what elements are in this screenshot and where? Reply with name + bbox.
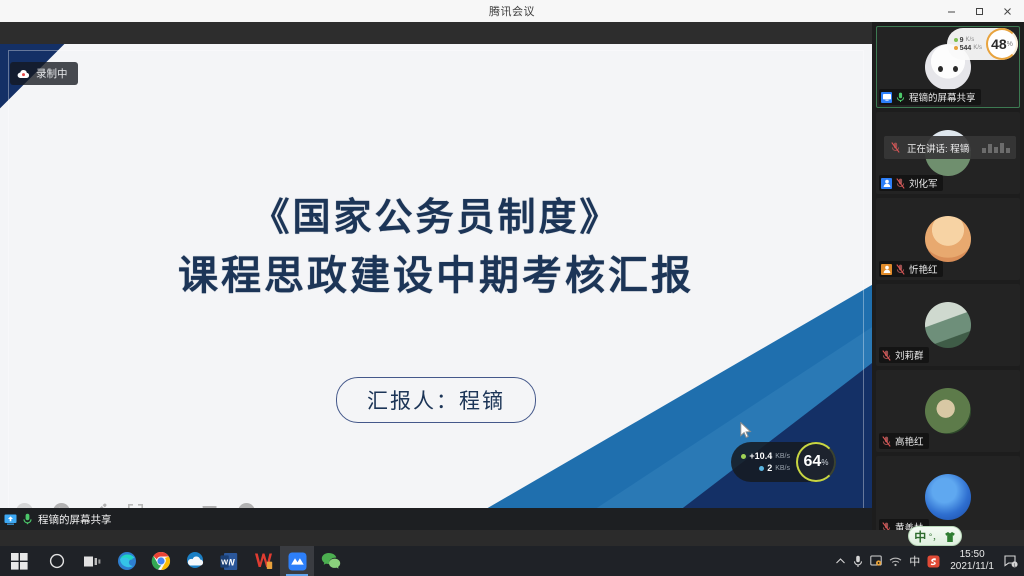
participant-name-chip: 刘莉群 [879, 347, 929, 363]
slide-title-line-1: 《国家公务员制度》 [0, 192, 872, 242]
muted-microphone-icon [895, 264, 906, 275]
taskbar-app-edge[interactable] [110, 546, 144, 576]
taskbar-left-group: W W [0, 546, 348, 576]
cpu-usage-value: 64 [804, 453, 822, 471]
muted-microphone-icon [881, 436, 892, 447]
cpu-usage-symbol: % [821, 458, 828, 467]
upload-speed-row: +10.4 KB/s [741, 451, 790, 461]
avatar [925, 216, 971, 262]
system-tray: 中 15:50 2021/11/1 1 [835, 546, 1024, 576]
tile-upload-row: 9 K/s [954, 37, 982, 44]
participant-rail[interactable]: 9 K/s 544 K/s 48 % [872, 22, 1024, 530]
participant-name: 刘化军 [909, 176, 938, 190]
sogou-icon[interactable] [927, 555, 940, 568]
avatar [925, 302, 971, 348]
participant-tile-screenshare[interactable]: 9 K/s 544 K/s 48 % [876, 26, 1020, 108]
upload-speed-value: +10.4 [749, 451, 772, 461]
tile-upload-unit: K/s [966, 37, 975, 43]
avatar [925, 474, 971, 520]
taskbar-app-wechat[interactable] [314, 546, 348, 576]
participant-name-chip: 程镝的屏幕共享 [879, 89, 981, 105]
recording-label: 录制中 [36, 66, 68, 81]
participant-tile-4[interactable]: 刘莉群 [876, 284, 1020, 366]
recording-badge: 录制中 [10, 62, 78, 85]
download-arrow-icon [954, 46, 958, 50]
powerpoint-slide[interactable]: 《国家公务员制度》 课程思政建设中期考核汇报 汇报人：程镝 录制中 [0, 44, 872, 530]
taskbar-app-chrome[interactable] [144, 546, 178, 576]
tile-usage-value: 48 [991, 36, 1007, 52]
download-speed-unit: KB/s [775, 465, 790, 472]
taskbar-app-weather[interactable] [178, 546, 212, 576]
wifi-icon[interactable] [889, 556, 902, 567]
active-speaker-text: 正在讲话: 程镝 [907, 141, 969, 155]
microphone-icon [21, 513, 34, 526]
download-arrow-icon [759, 466, 764, 471]
ime-floating-bar[interactable]: 中 °， [908, 526, 962, 546]
share-owner-label: 程镝的屏幕共享 [38, 512, 112, 527]
upload-arrow-icon [954, 38, 958, 42]
window-titlebar: 腾讯会议 [0, 0, 1024, 22]
taskbar-clock[interactable]: 15:50 2021/11/1 [947, 549, 997, 573]
microphone-icon [895, 92, 906, 103]
presenter-label: 汇报人：程镝 [336, 377, 536, 423]
tile-network-rows: 9 K/s 544 K/s [954, 37, 986, 52]
minimize-button[interactable] [938, 1, 964, 21]
monitor-share-icon [4, 513, 17, 526]
svg-text:W: W [221, 557, 228, 566]
audio-wave-icon [982, 143, 1010, 153]
tile-download-value: 544 [960, 45, 972, 52]
muted-microphone-icon [895, 178, 906, 189]
slide-title-block: 《国家公务员制度》 课程思政建设中期考核汇报 [0, 192, 872, 304]
ime-indicator[interactable]: 中 [909, 553, 920, 569]
cpu-usage-ring: 64 % [796, 442, 836, 482]
participant-tile-2[interactable]: 正在讲话: 程镝 刘化军 [876, 112, 1020, 194]
participant-name: 高艳红 [895, 434, 924, 448]
tile-upload-value: 9 [960, 37, 964, 44]
ime-mode-label[interactable]: 中 [914, 528, 926, 545]
muted-microphone-icon [881, 522, 892, 531]
participant-name: 刘莉群 [895, 348, 924, 362]
participant-tile-3[interactable]: 忻艳红 [876, 198, 1020, 280]
mic-icon[interactable] [853, 555, 863, 568]
taskbar-app-tencent-meeting[interactable] [280, 546, 314, 576]
search-circle-icon[interactable] [38, 546, 76, 576]
tile-usage-ring: 48 % [986, 28, 1018, 60]
muted-microphone-icon [890, 142, 901, 153]
active-speaker-toast: 正在讲话: 程镝 [884, 136, 1016, 159]
taskbar-app-word[interactable]: W W [212, 546, 246, 576]
download-speed-value: 2 [767, 463, 772, 473]
ime-punctuation-label[interactable]: °， [929, 530, 942, 543]
clock-date: 2021/11/1 [950, 561, 994, 573]
windows-taskbar[interactable]: W W [0, 546, 1024, 576]
upload-arrow-icon [741, 454, 746, 459]
host-badge-icon [881, 178, 892, 189]
upload-speed-unit: KB/s [775, 453, 790, 460]
window-controls [938, 0, 1020, 22]
network-status-overlay-tile[interactable]: 9 K/s 544 K/s 48 % [947, 28, 1018, 60]
clock-time: 15:50 [960, 549, 985, 561]
cloud-record-icon [17, 69, 30, 79]
slide-title-line-2: 课程思政建设中期考核汇报 [0, 248, 872, 304]
tray-overflow-icon[interactable] [835, 556, 846, 567]
download-speed-row: 2 KB/s [741, 463, 790, 473]
participant-name-chip: 高艳红 [879, 433, 929, 449]
participant-tile-6[interactable]: 黄善林 [876, 456, 1020, 530]
start-icon[interactable] [0, 546, 38, 576]
window-title: 腾讯会议 [489, 3, 535, 19]
network-speed-rows: +10.4 KB/s 2 KB/s [741, 451, 796, 473]
taskbar-app-wps[interactable] [246, 546, 280, 576]
muted-microphone-icon [881, 350, 892, 361]
tile-download-row: 544 K/s [954, 45, 982, 52]
tencent-meeting-window: 腾讯会议 [0, 0, 1024, 576]
shared-screen-area[interactable]: 《国家公务员制度》 课程思政建设中期考核汇报 汇报人：程镝 录制中 [0, 22, 872, 530]
maximize-button[interactable] [966, 1, 992, 21]
svg-text:1: 1 [1013, 562, 1016, 567]
tile-download-unit: K/s [973, 45, 982, 51]
avatar [925, 388, 971, 434]
participant-name: 程镝的屏幕共享 [909, 90, 976, 104]
security-icon[interactable] [870, 555, 882, 567]
notification-icon[interactable]: 1 [1004, 554, 1018, 568]
participant-tile-5[interactable]: 高艳红 [876, 370, 1020, 452]
tile-usage-symbol: % [1007, 41, 1013, 48]
cohost-badge-icon [881, 264, 892, 275]
share-footer-bar: 程镝的屏幕共享 [0, 508, 872, 530]
shirt-skin-icon[interactable] [944, 530, 956, 542]
close-button[interactable] [994, 1, 1020, 21]
task-view-icon[interactable] [76, 546, 110, 576]
participant-name: 忻艳红 [909, 262, 938, 276]
screen-share-badge-icon [881, 92, 892, 103]
network-status-overlay[interactable]: +10.4 KB/s 2 KB/s 64 % [731, 442, 836, 482]
participant-name-chip: 刘化军 [879, 175, 943, 191]
participant-name-chip: 忻艳红 [879, 261, 943, 277]
